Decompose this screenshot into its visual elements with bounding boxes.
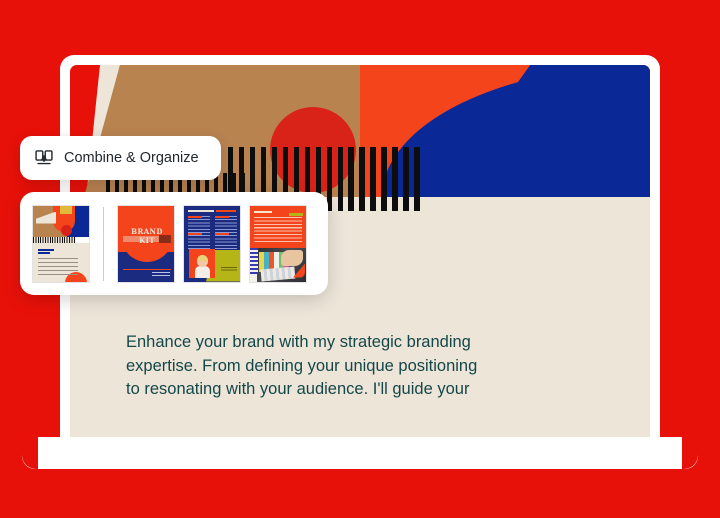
thumb2-footer-text [152,272,170,278]
thumb1-yellow-accent [60,206,72,214]
combine-and-organize-button[interactable]: Combine & Organize [20,136,221,180]
thumb4-swatch-fan [261,266,296,281]
thumb1-red-dot [61,225,72,236]
combine-organize-icon [34,148,54,168]
thumb3-subhead-right-1 [215,216,229,218]
thumbnail-collage-page[interactable] [32,205,90,283]
thumb3-portrait-body [195,266,210,278]
thumb4-hand [281,250,303,266]
thumb3-caption-text [221,267,237,272]
thumb3-header-line [188,210,214,212]
thumbnail-editorial-spread[interactable] [183,205,241,283]
thumb1-headline-2 [38,252,50,254]
thumb4-side-strip [250,248,258,274]
thumb2-rule [123,269,171,270]
hero-barcode-stripes-right [348,147,424,211]
laptop-base [22,437,698,469]
tray-divider [103,207,104,281]
thumb3-subhead-left-2 [188,233,202,235]
thumb4-headline [254,211,272,213]
page-thumbnail-tray[interactable]: BRAND KIT [20,192,328,295]
thumb4-olive-accent [289,213,303,216]
thumb4-text-lines [254,217,302,243]
thumb1-text-lines [38,258,78,278]
thumb3-header-accent [216,210,236,212]
page-body-paragraph: Enhance your brand with my strategic bra… [126,331,566,402]
thumb3-subhead-left-1 [188,216,202,218]
thumb2-cover-title: BRAND KIT [122,227,172,245]
combine-and-organize-label: Combine & Organize [64,150,199,166]
thumb1-headline-1 [38,249,54,251]
thumbnail-palette-page[interactable] [249,205,307,283]
thumb3-subhead-right-2 [215,233,229,235]
thumbnail-brand-kit-cover[interactable]: BRAND KIT [117,205,175,283]
